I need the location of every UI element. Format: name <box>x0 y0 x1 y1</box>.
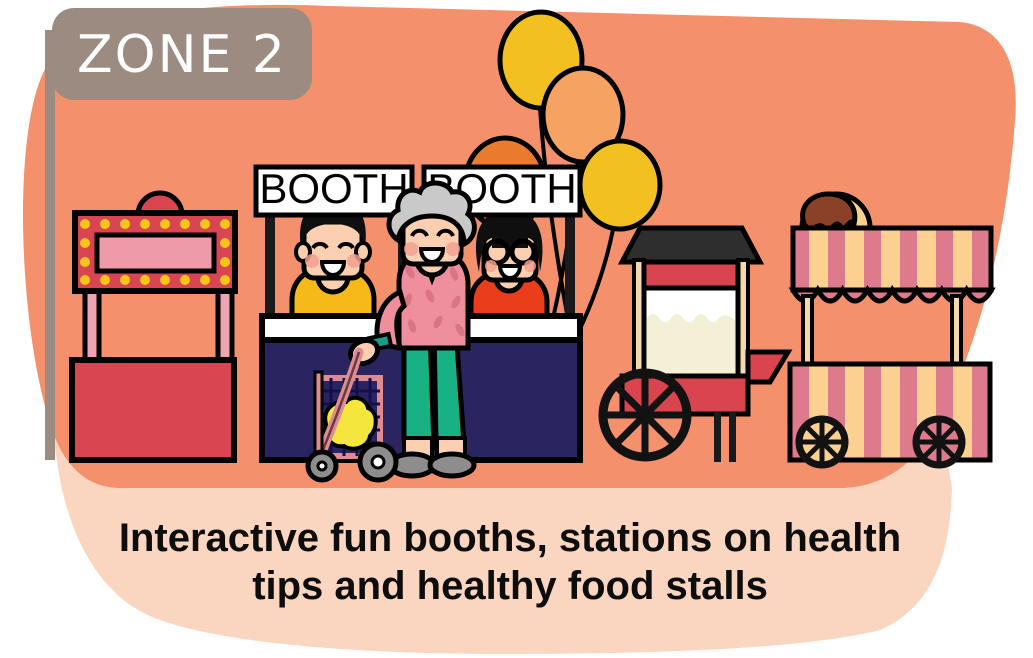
caption-line-2: tips and healthy food stalls <box>252 564 768 608</box>
ice-cream-wheel-right-hub <box>934 437 944 447</box>
attendant-right-cheek-l <box>485 260 497 272</box>
marquee-panel <box>97 235 214 271</box>
booth-post-1 <box>265 200 275 330</box>
shopper-cheek-l <box>404 242 418 256</box>
zone-poster-illustration: BOOTH BOOTH <box>0 0 1033 658</box>
ice-cream-wheel-left-hub <box>817 437 827 447</box>
popcorn-cart-leg-right <box>729 412 736 462</box>
balloon-yellow-right <box>580 141 660 229</box>
shopper-mouth <box>421 249 443 262</box>
ice-cream-post-left <box>803 296 812 366</box>
zone-badge-label: ZONE 2 <box>77 25 287 85</box>
attendant-right-mouth <box>500 266 520 278</box>
ice-cream-post-right <box>952 296 961 366</box>
popcorn-cart-leg-left <box>714 412 721 462</box>
attendant-left-cheek-r <box>347 254 361 268</box>
marquee-counter-base <box>72 360 234 460</box>
popsicle-chocolate-top <box>803 194 855 231</box>
popcorn-fill <box>647 314 735 376</box>
caption-line-1: Interactive fun booths, stations on heal… <box>119 516 901 560</box>
popcorn-cart-roof <box>622 228 760 262</box>
popcorn-cart-band <box>644 262 738 288</box>
zone-badge[interactable]: ZONE 2 <box>52 8 312 100</box>
flagpole <box>45 30 55 460</box>
trolley-wheel-right-hub <box>372 456 384 468</box>
attendant-left-mouth <box>322 262 344 275</box>
ice-cream-awning <box>793 228 991 290</box>
popcorn-cart-wheel-hub <box>638 408 652 422</box>
booth-sign-left: BOOTH <box>256 165 412 215</box>
booth-attendant-right <box>471 210 547 330</box>
shopper-shoe-right <box>430 454 474 476</box>
poster-stage: BOOTH BOOTH <box>0 0 1033 658</box>
booth-attendant-left <box>292 200 374 330</box>
attendant-right-cheek-r <box>524 260 536 272</box>
attendant-left-cheek-l <box>305 254 319 268</box>
booth-sign-left-label: BOOTH <box>259 165 408 212</box>
booth-post-4 <box>565 200 575 330</box>
shopper-cheek-r <box>446 242 460 256</box>
trolley-wheel-left-hub <box>318 462 326 470</box>
